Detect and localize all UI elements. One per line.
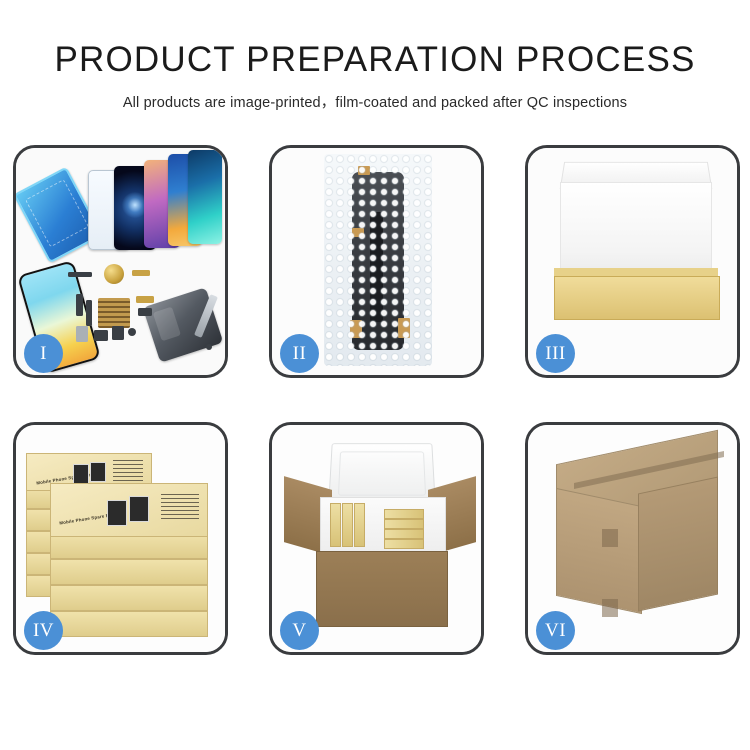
tape-marker <box>352 228 364 237</box>
phone-part-in-bag <box>352 172 404 350</box>
step-badge-2: II <box>280 334 319 373</box>
step-badge-6: VI <box>536 611 575 650</box>
step-badge-5: V <box>280 611 319 650</box>
step-card-6: VI <box>525 422 740 655</box>
inner-box-flat <box>384 519 424 529</box>
carton-tab <box>602 529 618 547</box>
sim-tray-part <box>76 326 88 342</box>
box-label-thumb <box>73 464 89 484</box>
step-card-2: II <box>269 145 484 378</box>
step-card-1: I <box>13 145 228 378</box>
carton-tab <box>602 599 618 617</box>
carton-body-image <box>316 551 448 627</box>
sealed-carton-illustration: VI <box>528 425 737 652</box>
header: PRODUCT PREPARATION PROCESS All products… <box>0 0 750 112</box>
connector-part <box>136 296 154 303</box>
inner-box-upright <box>342 503 353 547</box>
box-front-panel-image <box>554 276 720 320</box>
inner-box-flat <box>384 529 424 539</box>
inner-box-flat <box>384 539 424 549</box>
page-title: PRODUCT PREPARATION PROCESS <box>0 42 750 77</box>
screw-part <box>128 328 136 336</box>
product-preparation-infographic: PRODUCT PREPARATION PROCESS All products… <box>0 0 750 750</box>
antenna-part <box>76 294 83 316</box>
flex-cable-in-bag <box>370 212 383 322</box>
phone-teal-image <box>188 150 222 244</box>
step-badge-4: IV <box>24 611 63 650</box>
stacked-box <box>50 559 208 585</box>
tape-marker <box>358 166 370 175</box>
logic-board-image <box>98 298 130 328</box>
process-step-grid: I II <box>13 145 741 655</box>
taptic-part <box>112 326 124 340</box>
box-foam-liner-image <box>560 182 712 282</box>
stacked-box <box>50 585 208 611</box>
flex-cable-part <box>132 270 150 276</box>
box-label-thumb <box>90 462 106 482</box>
box-label-spec-lines <box>161 494 199 522</box>
earpiece-part <box>68 272 92 277</box>
camera-module-part <box>138 308 152 316</box>
carton-left-face <box>556 488 642 614</box>
step-card-3: III <box>525 145 740 378</box>
speaker-part <box>94 330 108 341</box>
box-label-thumb <box>107 500 127 526</box>
screw-part <box>206 344 212 350</box>
tape-marker <box>398 318 410 338</box>
bubble-wrapped-part-illustration: II <box>272 148 481 375</box>
carton-right-face <box>638 476 718 611</box>
flex-strip-part <box>86 300 92 326</box>
box-label-spec-lines <box>113 460 143 482</box>
parts-overview-illustration: I <box>16 148 225 375</box>
step-card-5: V <box>269 422 484 655</box>
inner-box-upright <box>330 503 341 547</box>
vibration-motor-icon <box>104 264 124 284</box>
step-badge-1: I <box>24 334 63 373</box>
inner-box-flat <box>384 509 424 519</box>
stacked-box <box>50 611 208 637</box>
stacked-boxes-illustration: Mobile Phone Spare Parts Mobile Phone Sp… <box>16 425 225 652</box>
step-badge-3: III <box>536 334 575 373</box>
bubble-bag-image <box>324 154 432 366</box>
inner-box-upright <box>354 503 365 547</box>
box-label-thumb <box>129 496 149 522</box>
tape-marker <box>350 320 362 338</box>
foam-lid-image <box>328 443 436 505</box>
step-card-4: Mobile Phone Spare Parts Mobile Phone Sp… <box>13 422 228 655</box>
labelled-box-top: Mobile Phone Spare Parts <box>50 483 208 537</box>
carton-loading-illustration: V <box>272 425 481 652</box>
inner-box-illustration: III <box>528 148 737 375</box>
page-subtitle: All products are image-printed，film-coat… <box>0 91 750 112</box>
